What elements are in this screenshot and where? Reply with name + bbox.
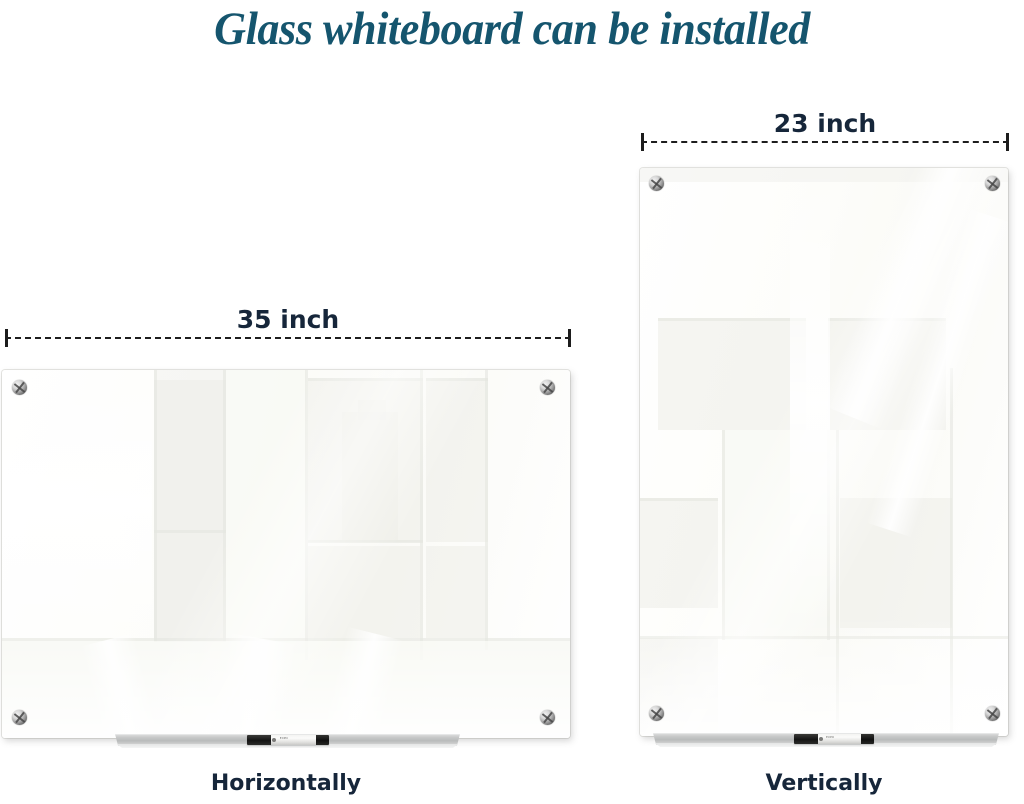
dimension-dashed-line <box>5 337 571 339</box>
reflection-wall-edge <box>640 498 718 501</box>
marker-logo-icon <box>272 738 276 742</box>
reflection-city-building <box>342 412 398 540</box>
reflection-window-pane <box>426 378 488 542</box>
dimension-label-vertical-board: 23 inch <box>641 109 1009 138</box>
dry-erase-marker: EXPO <box>794 734 874 744</box>
marker-cap-icon <box>794 734 818 744</box>
marker-brand-label: EXPO <box>280 737 288 740</box>
caption-vertical: Vertically <box>640 771 1008 796</box>
marker-cap-icon <box>247 735 271 745</box>
reflection-lower-glazing <box>308 546 423 638</box>
reflection-door-rail <box>154 530 226 533</box>
reflection-light-streak <box>2 370 152 640</box>
page-title: Glass whiteboard can be installed <box>31 2 994 56</box>
reflection-door-edge <box>154 370 157 642</box>
reflection-wall <box>226 370 306 642</box>
reflection-floor-wash <box>640 616 1008 736</box>
glass-whiteboard-vertical <box>640 168 1008 736</box>
mounting-screw-icon <box>649 176 664 191</box>
reflection-window-frame <box>658 318 806 321</box>
mounting-screw-icon <box>985 706 1000 721</box>
glass-whiteboard-horizontal <box>2 370 570 738</box>
reflection-floor-wash <box>2 642 570 738</box>
reflection-door-panel <box>154 380 226 642</box>
mounting-screw-icon <box>540 710 555 725</box>
reflection-wall-panel <box>640 498 718 608</box>
marker-tray-horizontal: EXPO <box>115 734 460 749</box>
reflection-city-building <box>358 400 386 420</box>
mounting-screw-icon <box>649 706 664 721</box>
marker-end-icon <box>316 735 329 745</box>
dimension-dashed-line <box>641 141 1009 143</box>
mounting-screw-icon <box>12 710 27 725</box>
caption-horizontal: Horizontally <box>2 771 570 796</box>
marker-logo-icon <box>819 737 823 741</box>
reflection-window-frame <box>308 540 423 543</box>
reflection-window-frame <box>426 378 488 381</box>
mounting-screw-icon <box>12 380 27 395</box>
dimension-label-horizontal-board: 35 inch <box>5 305 571 334</box>
marker-brand-label: EXPO <box>826 736 834 739</box>
reflection-window-frame <box>308 378 423 381</box>
reflection-window-pane <box>658 318 806 430</box>
mounting-screw-icon <box>985 176 1000 191</box>
marker-tray-vertical: EXPO <box>653 733 999 748</box>
reflection-door-edge <box>722 430 725 640</box>
reflection-lower-glazing <box>426 546 488 638</box>
marker-end-icon <box>861 734 874 744</box>
dry-erase-marker: EXPO <box>247 735 329 745</box>
mounting-screw-icon <box>540 380 555 395</box>
reflection-light-streak <box>790 168 830 638</box>
